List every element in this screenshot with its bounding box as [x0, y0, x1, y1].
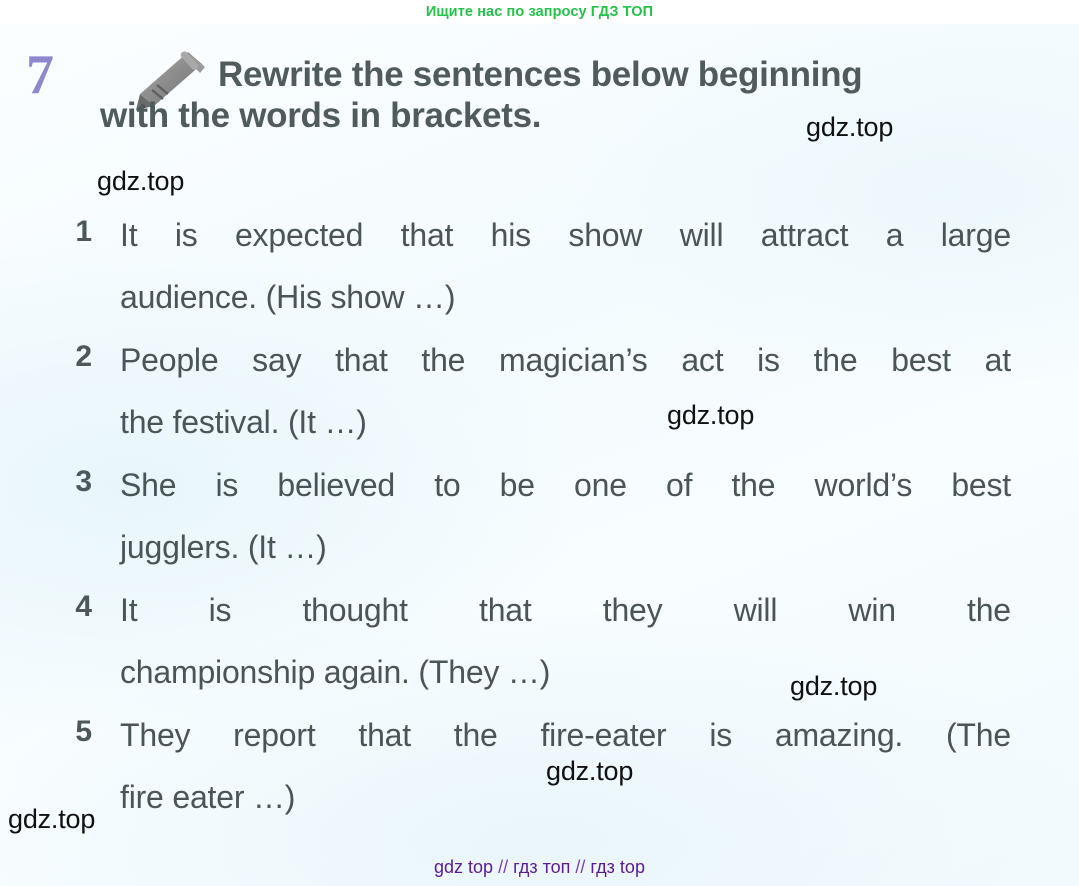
list-item-number: 4 [62, 579, 92, 635]
footer-separator: // [493, 857, 513, 877]
list-item-text: Itisexpectedthathisshowwillattractalarge… [120, 204, 1011, 328]
list-item: 3 Sheisbelievedtobeoneoftheworld’sbest j… [0, 454, 1079, 579]
promo-banner: Ищите нас по запросу ГДЗ ТОП [0, 0, 1079, 24]
list-item-number: 3 [62, 454, 92, 510]
exercise-number: 7 [26, 47, 53, 103]
list-item: 4 Itisthoughtthattheywillwinthe champion… [0, 579, 1079, 704]
watermark: gdz.top [667, 400, 754, 431]
footer-part-1: gdz top [434, 857, 493, 877]
watermark: gdz.top [546, 756, 633, 787]
list-item-number: 1 [62, 204, 92, 260]
list-item-text: Sheisbelievedtobeoneoftheworld’sbest jug… [120, 454, 1011, 578]
list-item-text: Peoplesaythatthemagician’sactisthebestat… [120, 329, 1011, 453]
footer: gdz top//гдз топ//гдз top [0, 857, 1079, 878]
list-item: 5 Theyreportthatthefire-eaterisamazing.(… [0, 704, 1079, 829]
list-item-number: 2 [62, 329, 92, 385]
list-item-line-2: audience. (His show …) [120, 266, 1011, 328]
scanned-worksheet-page: Ищите нас по запросу ГДЗ ТОП 7 [0, 0, 1079, 886]
footer-part-2: гдз топ [513, 857, 570, 877]
footer-separator: // [570, 857, 590, 877]
sentence-list: 1 Itisexpectedthathisshowwillattractalar… [0, 204, 1079, 829]
list-item: 1 Itisexpectedthathisshowwillattractalar… [0, 204, 1079, 329]
list-item-line-1: Itisexpectedthathisshowwillattractalarge [120, 204, 1011, 266]
promo-banner-text: Ищите нас по запросу ГДЗ ТОП [426, 4, 653, 20]
watermark: gdz.top [8, 804, 95, 835]
watermark: gdz.top [806, 112, 893, 143]
watermark: gdz.top [790, 671, 877, 702]
footer-part-3: гдз top [590, 857, 645, 877]
list-item-text: Itisthoughtthattheywillwinthe championsh… [120, 579, 1011, 703]
list-item-line-2: the festival. (It …) [120, 391, 1011, 453]
list-item-line-1: Sheisbelievedtobeoneoftheworld’sbest [120, 454, 1011, 516]
list-item-number: 5 [62, 704, 92, 760]
list-item-line-2: championship again. (They …) [120, 641, 1011, 703]
list-item-line-2: jugglers. (It …) [120, 516, 1011, 578]
list-item-line-1: Peoplesaythatthemagician’sactisthebestat [120, 329, 1011, 391]
list-item: 2 Peoplesaythatthemagician’sactisthebest… [0, 329, 1079, 454]
list-item-line-1: Itisthoughtthattheywillwinthe [120, 579, 1011, 641]
exercise-heading: Rewrite the sentences below beginning wi… [218, 54, 1018, 137]
watermark: gdz.top [97, 166, 184, 197]
heading-line-1: Rewrite the sentences below beginning [218, 55, 862, 94]
